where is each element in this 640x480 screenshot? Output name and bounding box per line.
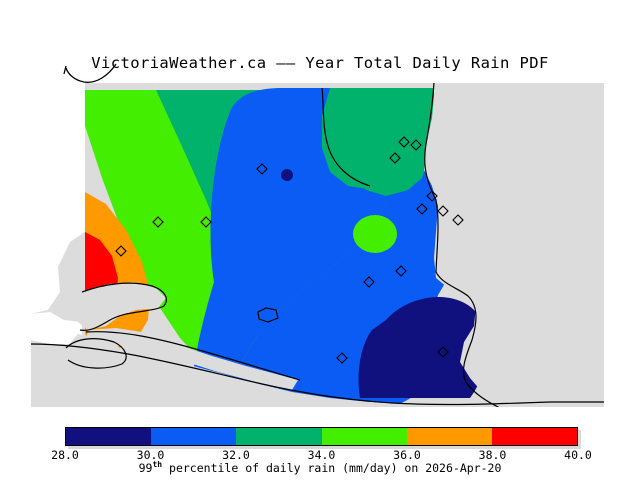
caption-suffix: percentile of daily rain (mm/day) on 202… — [162, 461, 501, 475]
caption-superscript: th — [152, 460, 162, 469]
band-28-30-dot — [281, 169, 293, 181]
colorbar-segment-32-34[interactable] — [236, 428, 321, 445]
figure-canvas: VictoriaWeather.ca —— Year Total Daily R… — [0, 0, 640, 480]
colorbar[interactable] — [65, 427, 578, 446]
colorbar-segment-30-32[interactable] — [151, 428, 236, 445]
band-34-36-island — [353, 215, 397, 253]
colorbar-shadow-right — [578, 430, 581, 449]
colorbar-caption: 99th percentile of daily rain (mm/day) o… — [0, 460, 640, 475]
caption-prefix: 99 — [139, 461, 153, 475]
coastline-arc-margin — [30, 28, 150, 86]
colorbar-segment-38-40[interactable] — [492, 428, 577, 445]
colorbar-segment-36-38[interactable] — [407, 428, 492, 445]
map-plot-area[interactable] — [30, 82, 605, 408]
colorbar-segment-28-30[interactable] — [66, 428, 151, 445]
colorbar-segment-34-36[interactable] — [322, 428, 407, 445]
contour-map[interactable] — [30, 82, 605, 408]
